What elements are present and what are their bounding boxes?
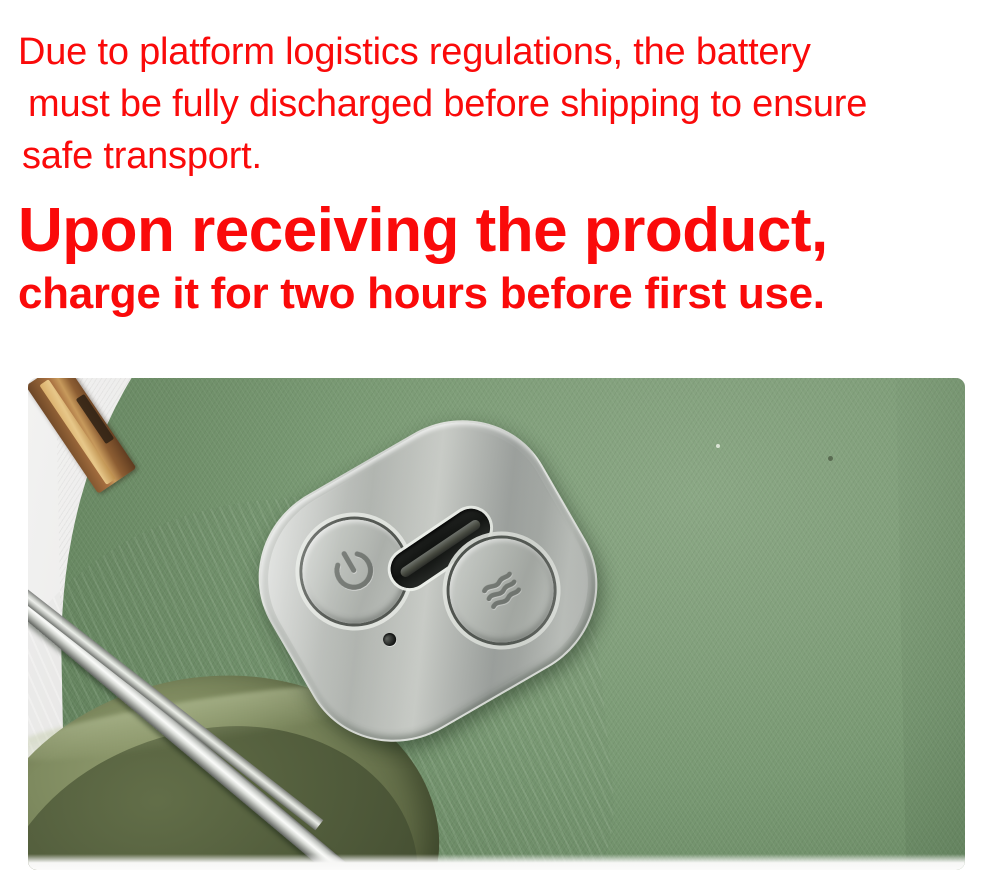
product-photo [28,378,965,870]
notice-paragraph-line-2: must be fully discharged before shipping… [6,78,994,130]
notice-subheadline: charge it for two hours before first use… [6,266,994,322]
led-indicator [381,631,399,649]
page-root: Due to platform logistics regulations, t… [0,0,1000,890]
headline-group: Upon receiving the product, charge it fo… [6,196,994,322]
notice-paragraph-line-3: safe transport. [6,130,994,182]
notice-paragraph-line-1: Due to platform logistics regulations, t… [6,26,994,78]
photo-bottom-strip [28,854,965,870]
surface-speck [716,444,720,448]
surface-speck [828,456,833,461]
notice-text-block: Due to platform logistics regulations, t… [0,0,1000,322]
notice-headline: Upon receiving the product, [6,196,994,266]
